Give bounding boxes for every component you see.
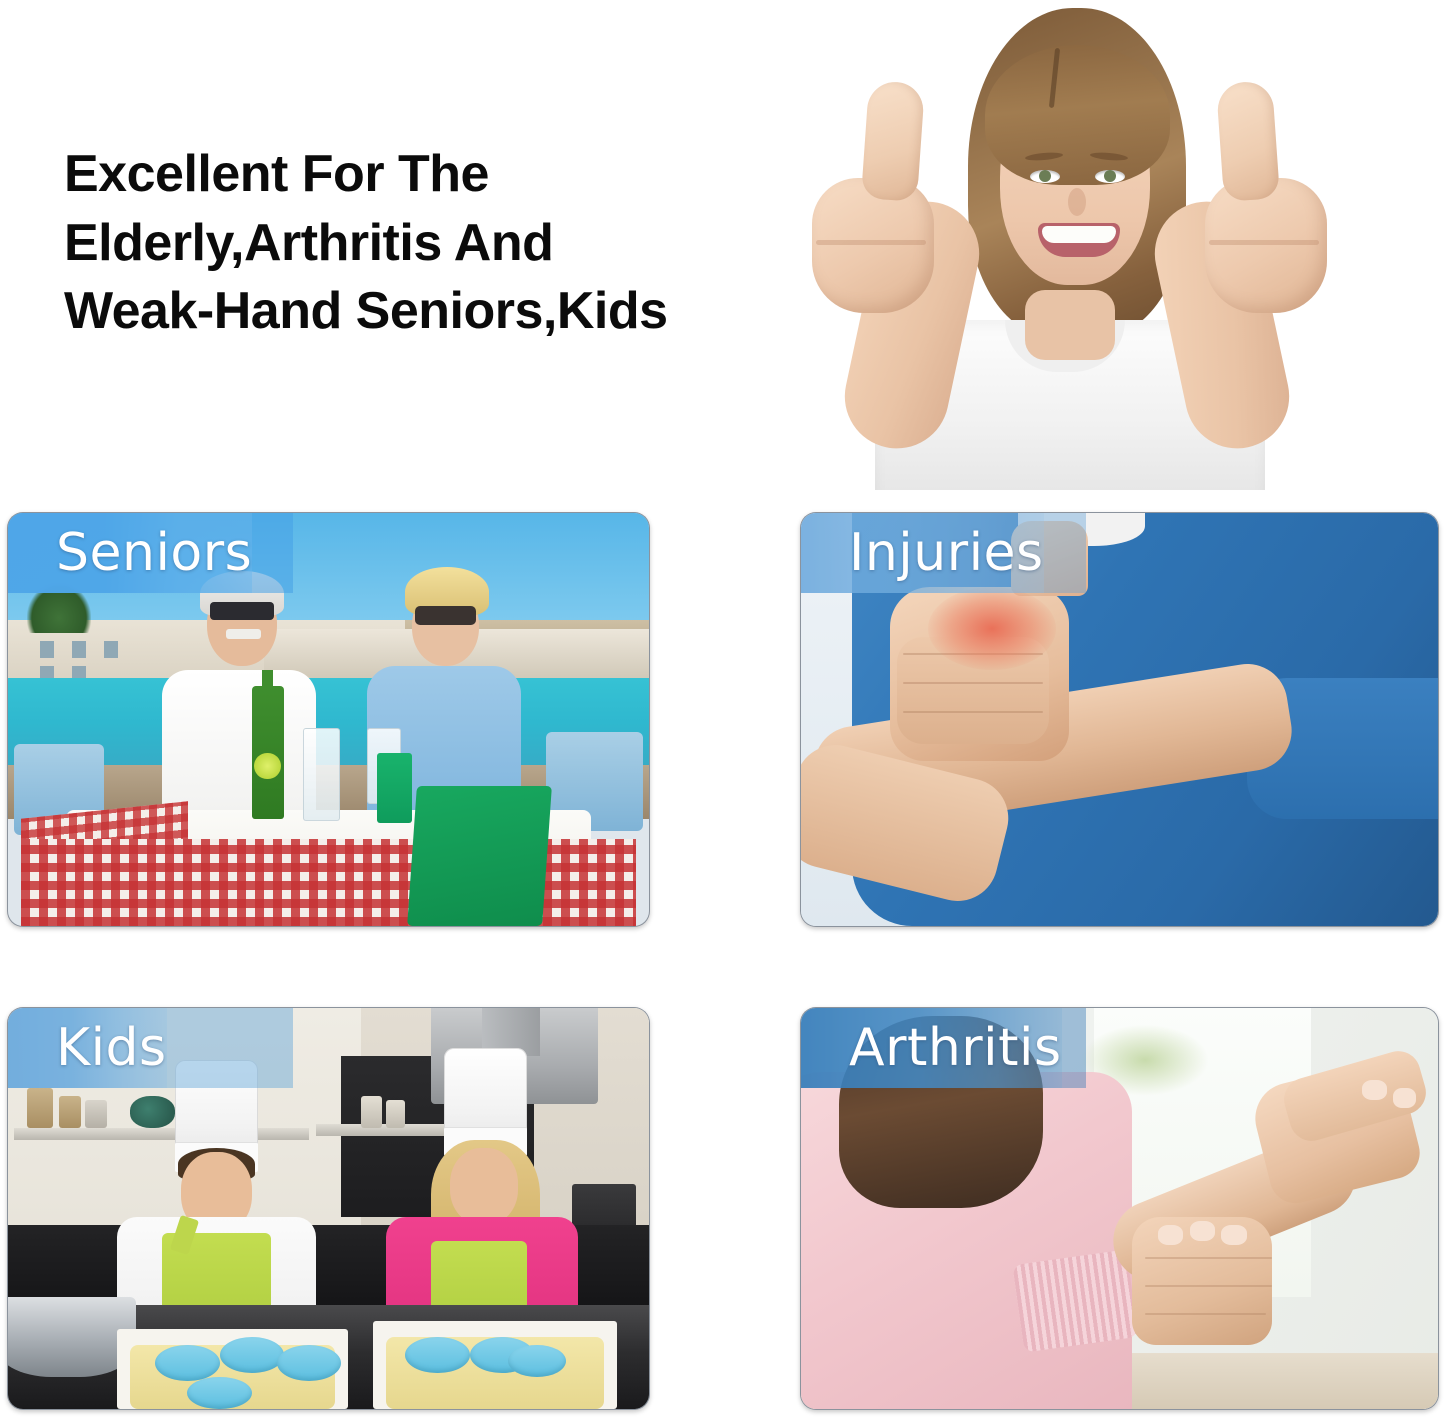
jar	[59, 1096, 81, 1128]
spice-jar	[386, 1100, 405, 1128]
hero-section: Excellent For The Elderly,Arthritis And …	[0, 0, 1445, 500]
pain-highlight-red	[928, 587, 1055, 670]
seniors-photo	[8, 513, 649, 926]
fingernail	[1158, 1225, 1183, 1245]
sweater-cuff	[1012, 1249, 1138, 1352]
lime-slice	[254, 753, 281, 780]
fingernail	[1393, 1088, 1415, 1108]
girl-hair-fringe	[985, 45, 1170, 185]
blue-cookie-cutter	[155, 1345, 219, 1381]
fingernail	[1362, 1080, 1387, 1100]
blue-cookie-cutter	[220, 1337, 284, 1373]
girl-nose	[1068, 188, 1086, 216]
blue-cookie-cutter	[405, 1337, 469, 1373]
blue-cookie-cutter	[277, 1345, 341, 1381]
green-teapot	[130, 1096, 175, 1128]
injuries-photo	[801, 513, 1438, 926]
hero-image-girl-thumbs-up	[700, 0, 1445, 490]
girl-knuckle-line-left	[816, 240, 926, 245]
water-glass-center	[303, 728, 340, 821]
man-sunglasses	[210, 602, 274, 621]
girl-knuckle-line-right	[1209, 240, 1319, 245]
girl-head	[450, 1148, 517, 1224]
girl-iris-left	[1039, 170, 1051, 182]
thumb	[1011, 521, 1087, 595]
man-moustache	[226, 629, 261, 640]
wall-shelf-left	[14, 1128, 309, 1140]
blue-cookie-cutter	[187, 1377, 251, 1409]
page-headline: Excellent For The Elderly,Arthritis And …	[64, 140, 804, 346]
window	[72, 641, 86, 658]
woman-sunglasses	[415, 606, 476, 625]
use-case-panel-seniors[interactable]: Seniors	[7, 512, 650, 927]
palm-tree	[27, 583, 91, 633]
finger-crease	[1145, 1313, 1266, 1315]
girl-iris-right	[1104, 170, 1116, 182]
thumbs-up-icon-right	[1216, 80, 1280, 202]
fingernail	[1221, 1225, 1246, 1245]
green-can	[377, 753, 412, 823]
girl-fist-left	[812, 178, 934, 313]
canister	[85, 1100, 107, 1128]
use-case-panel-injuries[interactable]: Injuries	[800, 512, 1439, 927]
fingernail	[1190, 1221, 1215, 1241]
use-case-panel-arthritis[interactable]: Arthritis	[800, 1007, 1439, 1410]
kids-photo	[8, 1008, 649, 1409]
jar	[27, 1088, 53, 1128]
girl-teeth	[1042, 226, 1116, 243]
girl-neck	[1025, 290, 1115, 360]
blue-cookie-cutter	[508, 1345, 566, 1377]
finger-crease	[903, 711, 1043, 713]
thumbs-up-icon-left	[861, 80, 925, 202]
arthritis-photo	[801, 1008, 1438, 1409]
girl-smiling-mouth	[1038, 223, 1120, 257]
window	[104, 641, 118, 658]
use-case-panel-kids[interactable]: Kids	[7, 1007, 650, 1410]
woman-dark-hair	[839, 1016, 1043, 1208]
spice-jar	[361, 1096, 383, 1128]
finger-crease	[1145, 1257, 1272, 1259]
window	[40, 641, 54, 658]
green-shopping-bag	[407, 786, 551, 926]
finger-crease	[1145, 1285, 1272, 1287]
girl-fist-right	[1205, 178, 1327, 313]
